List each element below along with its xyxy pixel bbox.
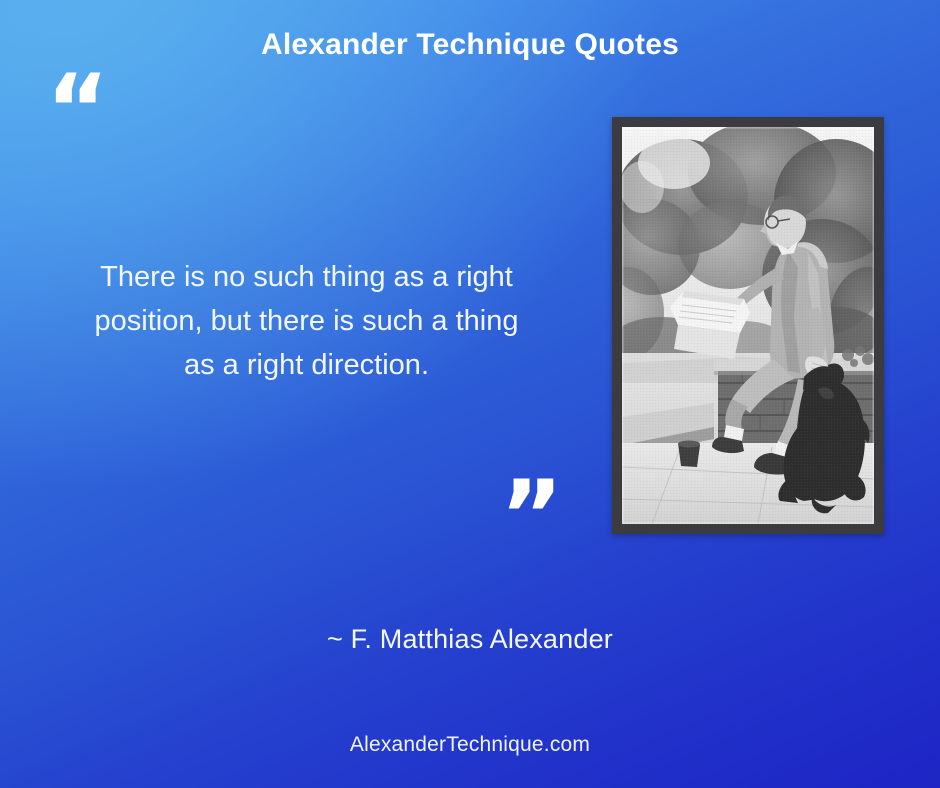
site-footer: AlexanderTechnique.com (0, 733, 940, 757)
portrait-photo (622, 127, 874, 524)
quote-text: There is no such thing as a right positi… (34, 255, 579, 387)
photo-frame (612, 117, 884, 534)
quote-card: Alexander Technique Quotes “ There is no… (0, 0, 940, 788)
page-title: Alexander Technique Quotes (0, 27, 940, 63)
quote-attribution: ~ F. Matthias Alexander (0, 624, 940, 655)
close-quote-icon: ” (500, 468, 563, 564)
open-quote-icon: “ (46, 62, 109, 158)
